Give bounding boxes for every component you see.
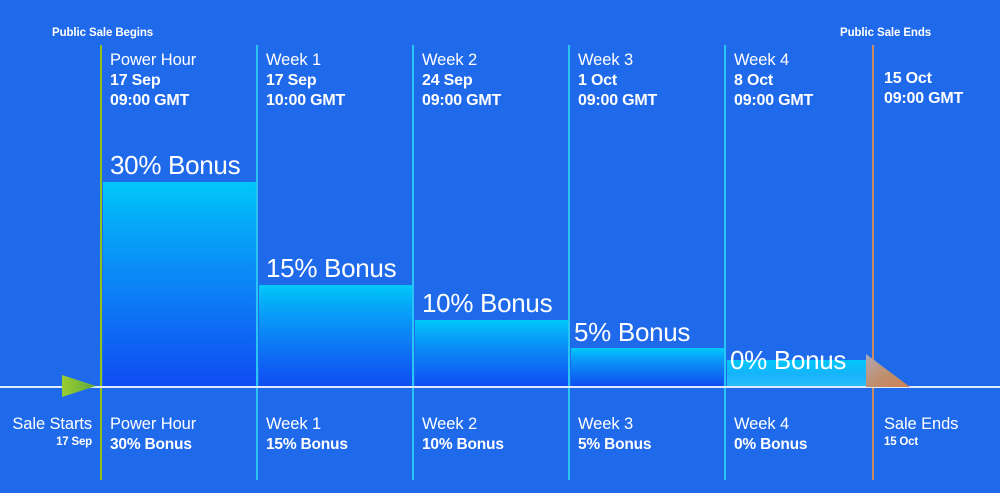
marker-date: 17 Sep <box>0 435 92 450</box>
bar-week-2 <box>415 320 568 386</box>
marker-title: Sale Ends <box>884 414 958 435</box>
column-name: Power Hour <box>110 414 196 435</box>
bonus-schedule-graphic: Public Sale Begins Public Sale Ends Powe… <box>0 0 1000 493</box>
bonus-label-week-4: 0% Bonus <box>730 345 846 376</box>
column-bonus: 15% Bonus <box>266 435 348 455</box>
baseline-axis <box>0 386 1000 388</box>
bar-week-1 <box>259 285 412 386</box>
bottom-week-1: Week 1 15% Bonus <box>266 414 348 456</box>
marker-title: Sale Starts <box>0 414 92 435</box>
column-name: Week 4 <box>734 414 807 435</box>
column-bonus: 30% Bonus <box>110 435 196 455</box>
bottom-week-4: Week 4 0% Bonus <box>734 414 807 456</box>
column-bonus: 0% Bonus <box>734 435 807 455</box>
bottom-sale-starts: Sale Starts 17 Sep <box>0 414 92 450</box>
column-name: Week 2 <box>422 414 504 435</box>
column-bonus: 10% Bonus <box>422 435 504 455</box>
bottom-power-hour: Power Hour 30% Bonus <box>110 414 196 456</box>
column-name: Week 1 <box>266 414 348 435</box>
bottom-sale-ends: Sale Ends 15 Oct <box>884 414 958 450</box>
bottom-week-2: Week 2 10% Bonus <box>422 414 504 456</box>
bonus-label-week-3: 5% Bonus <box>574 317 690 348</box>
bottom-week-3: Week 3 5% Bonus <box>578 414 651 456</box>
column-name: Week 3 <box>578 414 651 435</box>
bar-week-3 <box>571 348 724 386</box>
bonus-label-week-1: 15% Bonus <box>266 253 396 284</box>
bonus-label-power-hour: 30% Bonus <box>110 150 240 181</box>
bonus-label-week-2: 10% Bonus <box>422 288 552 319</box>
bar-power-hour <box>103 182 256 386</box>
column-bonus: 5% Bonus <box>578 435 651 455</box>
marker-date: 15 Oct <box>884 435 958 450</box>
